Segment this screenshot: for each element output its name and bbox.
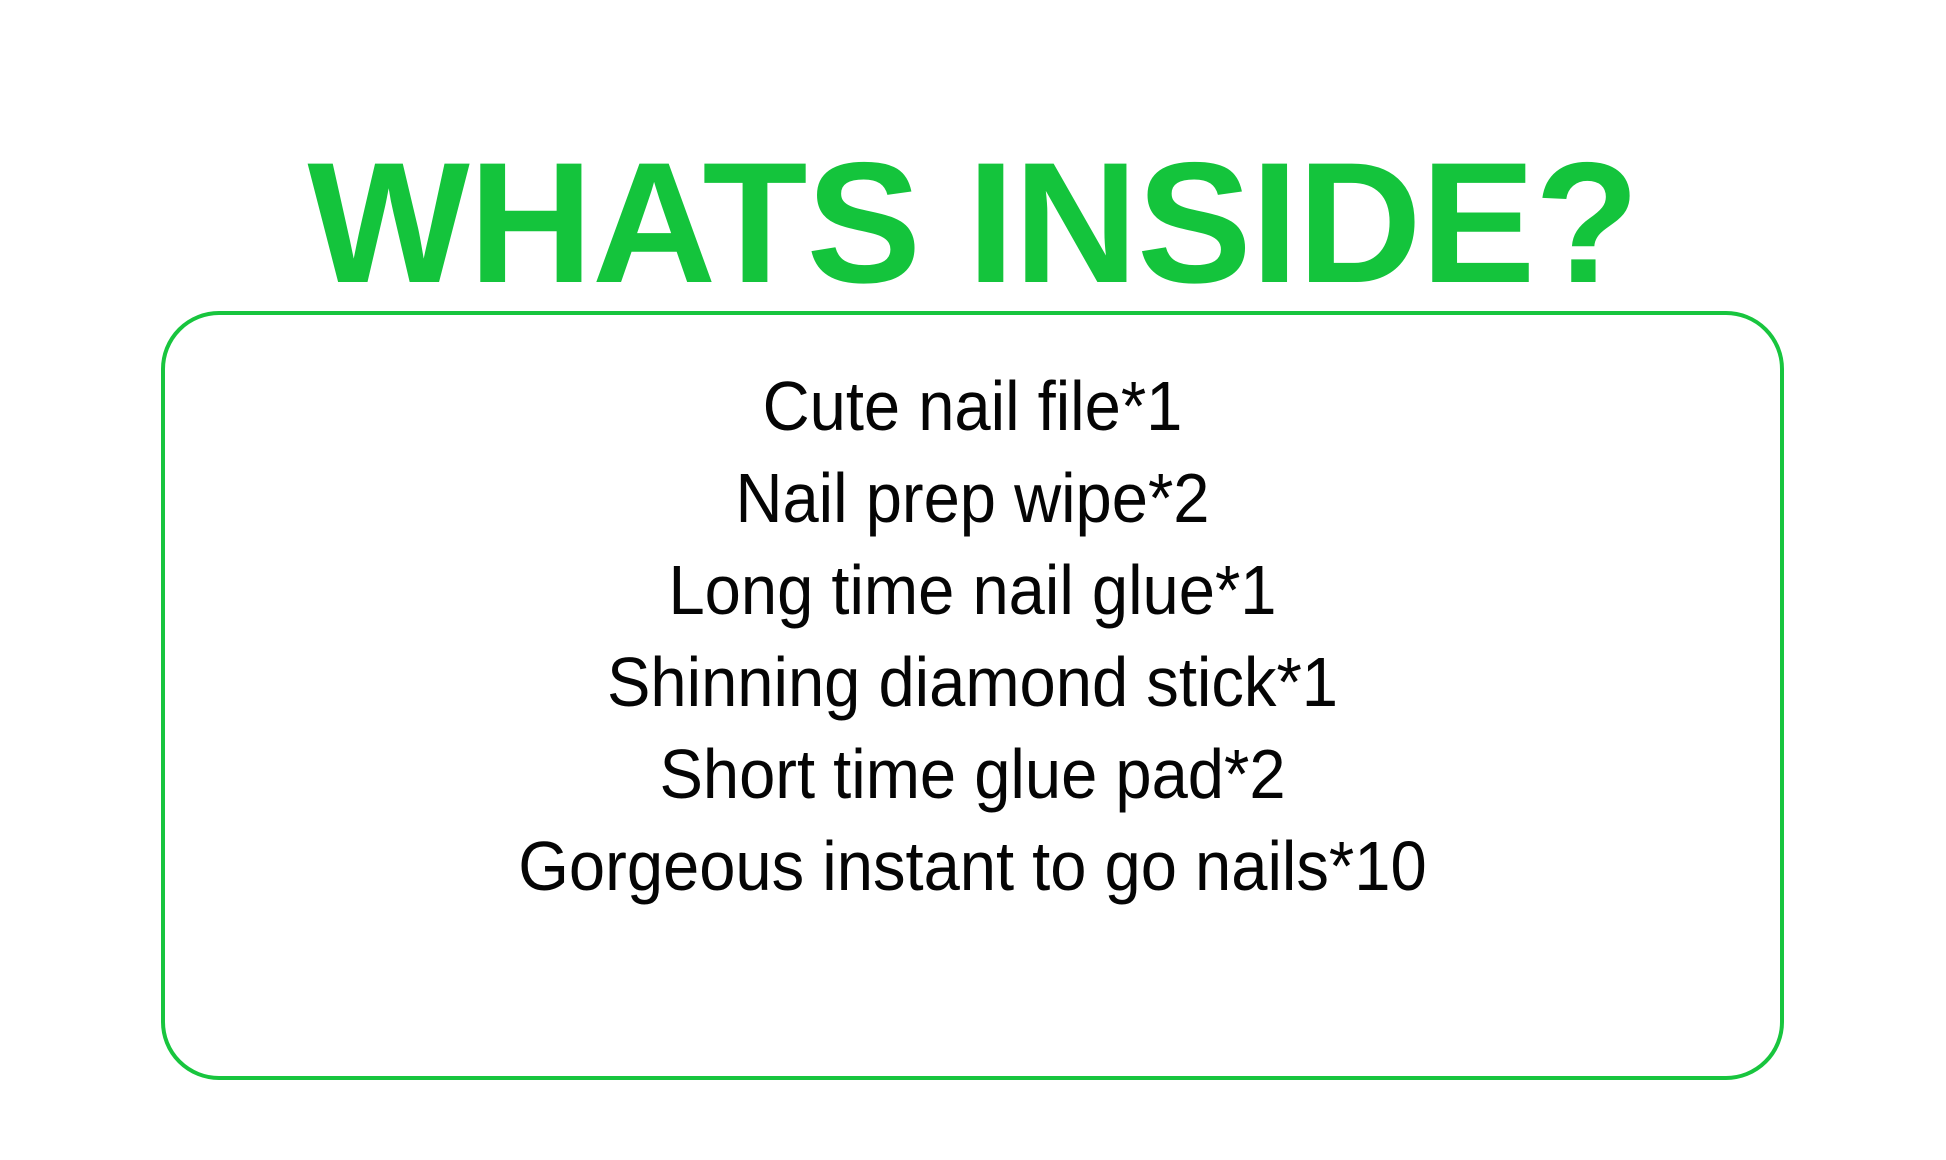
list-item: Cute nail file*1 xyxy=(222,360,1724,452)
list-item: Gorgeous instant to go nails*10 xyxy=(222,820,1724,912)
page-title: WHATS INSIDE? xyxy=(0,137,1946,309)
list-item: Short time glue pad*2 xyxy=(222,728,1724,820)
product-info-slide: WHATS INSIDE? Cute nail file*1 Nail prep… xyxy=(0,0,1946,1160)
whats-inside-card: Cute nail file*1 Nail prep wipe*2 Long t… xyxy=(161,311,1784,1080)
list-item: Nail prep wipe*2 xyxy=(222,452,1724,544)
included-items-list: Cute nail file*1 Nail prep wipe*2 Long t… xyxy=(165,315,1780,912)
list-item: Shinning diamond stick*1 xyxy=(222,636,1724,728)
list-item: Long time nail glue*1 xyxy=(222,544,1724,636)
